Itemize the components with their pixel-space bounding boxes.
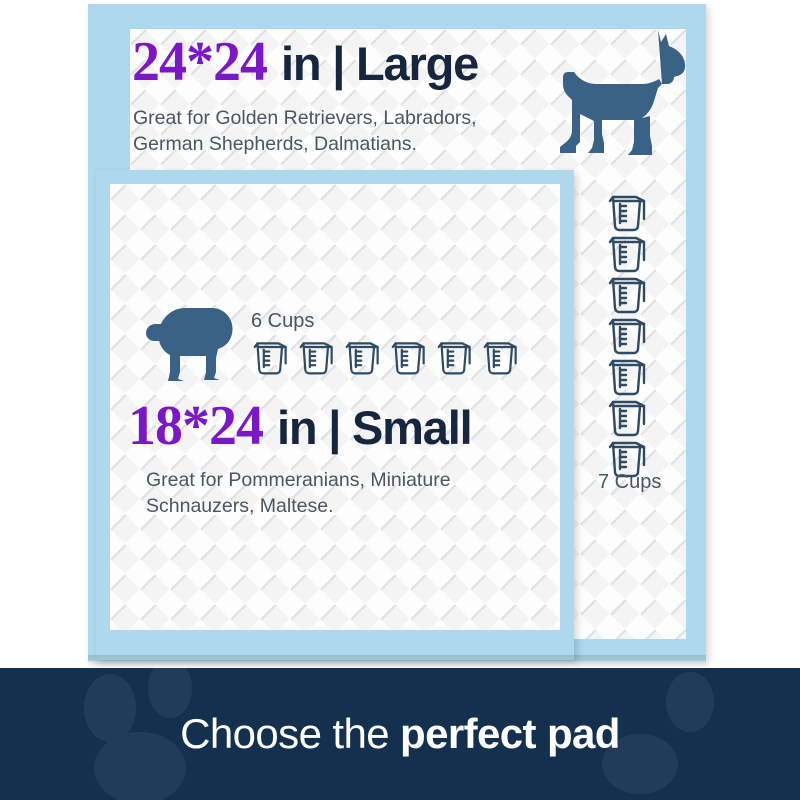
pad-small-cups-row: [251, 337, 523, 377]
boxer-dog-icon: [538, 22, 688, 167]
infographic-canvas: 24*24 in | Large Great for Golden Retrie…: [0, 0, 800, 800]
pad-large-cups-label: 7 Cups: [598, 471, 661, 494]
measuring-cup-icon: [603, 354, 655, 395]
measuring-cup-icon: [389, 337, 431, 377]
measuring-cup-icon: [603, 231, 655, 272]
measuring-cup-icon: [435, 337, 477, 377]
measuring-cup-icon: [603, 272, 655, 313]
pad-small-cups-label: 6 Cups: [251, 310, 314, 333]
pad-small-headline: 18*24 in | Small: [128, 398, 471, 454]
pad-small-description: Great for Pommeranians, Miniature Schnau…: [146, 468, 451, 519]
pad-large-size-label: in | Large: [281, 40, 478, 87]
pug-dog-icon: [140, 300, 240, 390]
pad-large-dimension: 24*24: [132, 34, 267, 90]
banner-text-bold: perfect pad: [400, 710, 620, 757]
pad-floor-shadow: [88, 655, 706, 667]
measuring-cup-icon: [603, 395, 655, 436]
banner-headline: Choose the perfect pad: [180, 710, 620, 758]
pad-large-description: Great for Golden Retrievers, Labradors, …: [133, 106, 477, 157]
measuring-cup-icon: [603, 190, 655, 231]
pad-large-cups-column: [603, 190, 655, 477]
measuring-cup-icon: [603, 313, 655, 354]
measuring-cup-icon: [251, 337, 293, 377]
pad-small-dimension: 18*24: [128, 398, 263, 454]
measuring-cup-icon: [343, 337, 385, 377]
measuring-cup-icon: [297, 337, 339, 377]
banner-text-regular: Choose the: [180, 710, 400, 757]
measuring-cup-icon: [481, 337, 523, 377]
pad-large-headline: 24*24 in | Large: [132, 34, 478, 90]
pad-small-size-label: in | Small: [277, 404, 471, 451]
bottom-banner: Choose the perfect pad: [0, 668, 800, 800]
